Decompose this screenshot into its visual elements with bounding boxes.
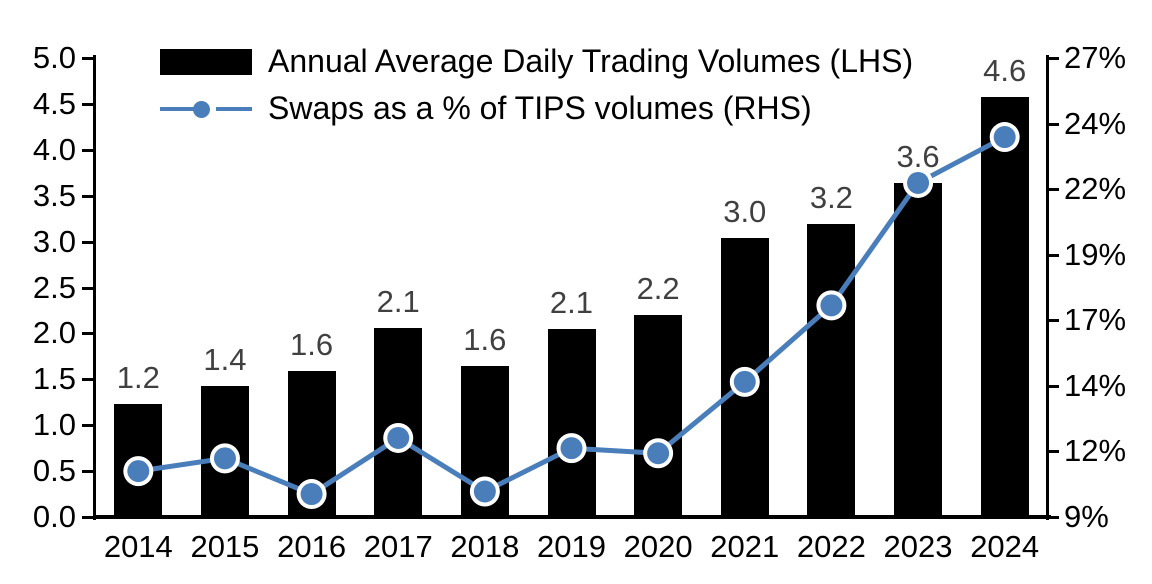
right-axis-tick-label: 9% [1064, 501, 1109, 532]
right-axis-tick-label: 22% [1064, 173, 1126, 204]
left-axis-tick-label: 4.0 [4, 134, 76, 165]
bar [461, 366, 509, 517]
chart-legend: Annual Average Daily Trading Volumes (LH… [160, 38, 913, 132]
x-axis-tick-label: 2015 [182, 531, 269, 562]
x-axis-tick-label: 2021 [701, 531, 788, 562]
bar [114, 404, 162, 517]
left-axis-tick-label: 5.0 [4, 42, 76, 73]
x-axis-tick-label: 2020 [615, 531, 702, 562]
right-axis-tick-label: 24% [1064, 108, 1126, 139]
legend-item-bars: Annual Average Daily Trading Volumes (LH… [160, 38, 913, 85]
bar [894, 183, 942, 517]
right-axis-tick [1048, 319, 1059, 322]
bar [634, 315, 682, 517]
right-axis-tick-label: 12% [1064, 435, 1126, 466]
bar-data-label: 3.2 [788, 182, 875, 213]
left-axis-tick [82, 195, 93, 198]
legend-line-swatch-icon [160, 96, 252, 122]
bar [201, 386, 249, 517]
left-axis-tick-label: 4.5 [4, 88, 76, 119]
legend-item-label: Swaps as a % of TIPS volumes (RHS) [268, 90, 812, 127]
x-axis-tick-label: 2023 [875, 531, 962, 562]
left-axis-tick [82, 103, 93, 106]
legend-item-label: Annual Average Daily Trading Volumes (LH… [268, 43, 913, 80]
x-axis-tick-label: 2018 [442, 531, 529, 562]
left-axis-tick-label: 3.5 [4, 180, 76, 211]
left-axis-tick [82, 470, 93, 473]
bar-data-label: 2.1 [528, 287, 615, 318]
left-axis-tick [82, 378, 93, 381]
x-axis-tick-label: 2024 [961, 531, 1048, 562]
bar-data-label: 3.6 [875, 141, 962, 172]
bar-data-label: 2.1 [355, 286, 442, 317]
bar-data-label: 2.2 [615, 273, 702, 304]
right-axis-tick [1048, 385, 1059, 388]
bar [288, 371, 336, 517]
left-axis-tick [82, 332, 93, 335]
left-axis-tick-label: 1.5 [4, 363, 76, 394]
bar-data-label: 1.2 [95, 362, 182, 393]
legend-bar-swatch-icon [160, 49, 252, 75]
right-axis-tick [1048, 450, 1059, 453]
x-axis-tick-label: 2016 [268, 531, 355, 562]
bar-data-label: 4.6 [961, 55, 1048, 86]
left-axis-tick [82, 241, 93, 244]
right-axis-tick-label: 14% [1064, 370, 1126, 401]
left-axis-tick-label: 1.0 [4, 409, 76, 440]
right-axis-tick [1048, 188, 1059, 191]
x-axis-tick-label: 2019 [528, 531, 615, 562]
legend-item-line: Swaps as a % of TIPS volumes (RHS) [160, 85, 913, 132]
x-axis-tick-label: 2022 [788, 531, 875, 562]
left-axis-tick [82, 516, 93, 519]
left-axis-tick [82, 57, 93, 60]
bar-data-label: 1.4 [182, 344, 269, 375]
bar [721, 238, 769, 517]
x-axis-tick-label: 2017 [355, 531, 442, 562]
bar-data-label: 3.0 [701, 196, 788, 227]
left-axis-tick-label: 2.5 [4, 272, 76, 303]
bar-data-label: 1.6 [268, 329, 355, 360]
left-axis-tick-label: 0.5 [4, 455, 76, 486]
right-axis-tick-label: 27% [1064, 42, 1126, 73]
bar [374, 328, 422, 517]
right-axis-tick-label: 17% [1064, 304, 1126, 335]
bar [548, 329, 596, 517]
left-axis-tick-label: 2.0 [4, 317, 76, 348]
right-axis-tick [1048, 123, 1059, 126]
left-axis-tick [82, 149, 93, 152]
bar [981, 97, 1029, 517]
left-axis-tick [82, 424, 93, 427]
chart-container: 0.00.51.01.52.02.53.03.54.04.55.0 9%12%1… [0, 0, 1152, 584]
x-axis-tick-label: 2014 [95, 531, 182, 562]
right-axis-tick-label: 19% [1064, 239, 1126, 270]
left-axis-tick [82, 287, 93, 290]
right-axis-tick [1048, 57, 1059, 60]
left-axis-tick-label: 0.0 [4, 501, 76, 532]
right-axis-tick [1048, 254, 1059, 257]
right-axis-tick [1048, 516, 1059, 519]
left-axis-tick-label: 3.0 [4, 226, 76, 257]
bar-data-label: 1.6 [442, 324, 529, 355]
bar [807, 224, 855, 517]
left-axis-line [93, 55, 96, 520]
